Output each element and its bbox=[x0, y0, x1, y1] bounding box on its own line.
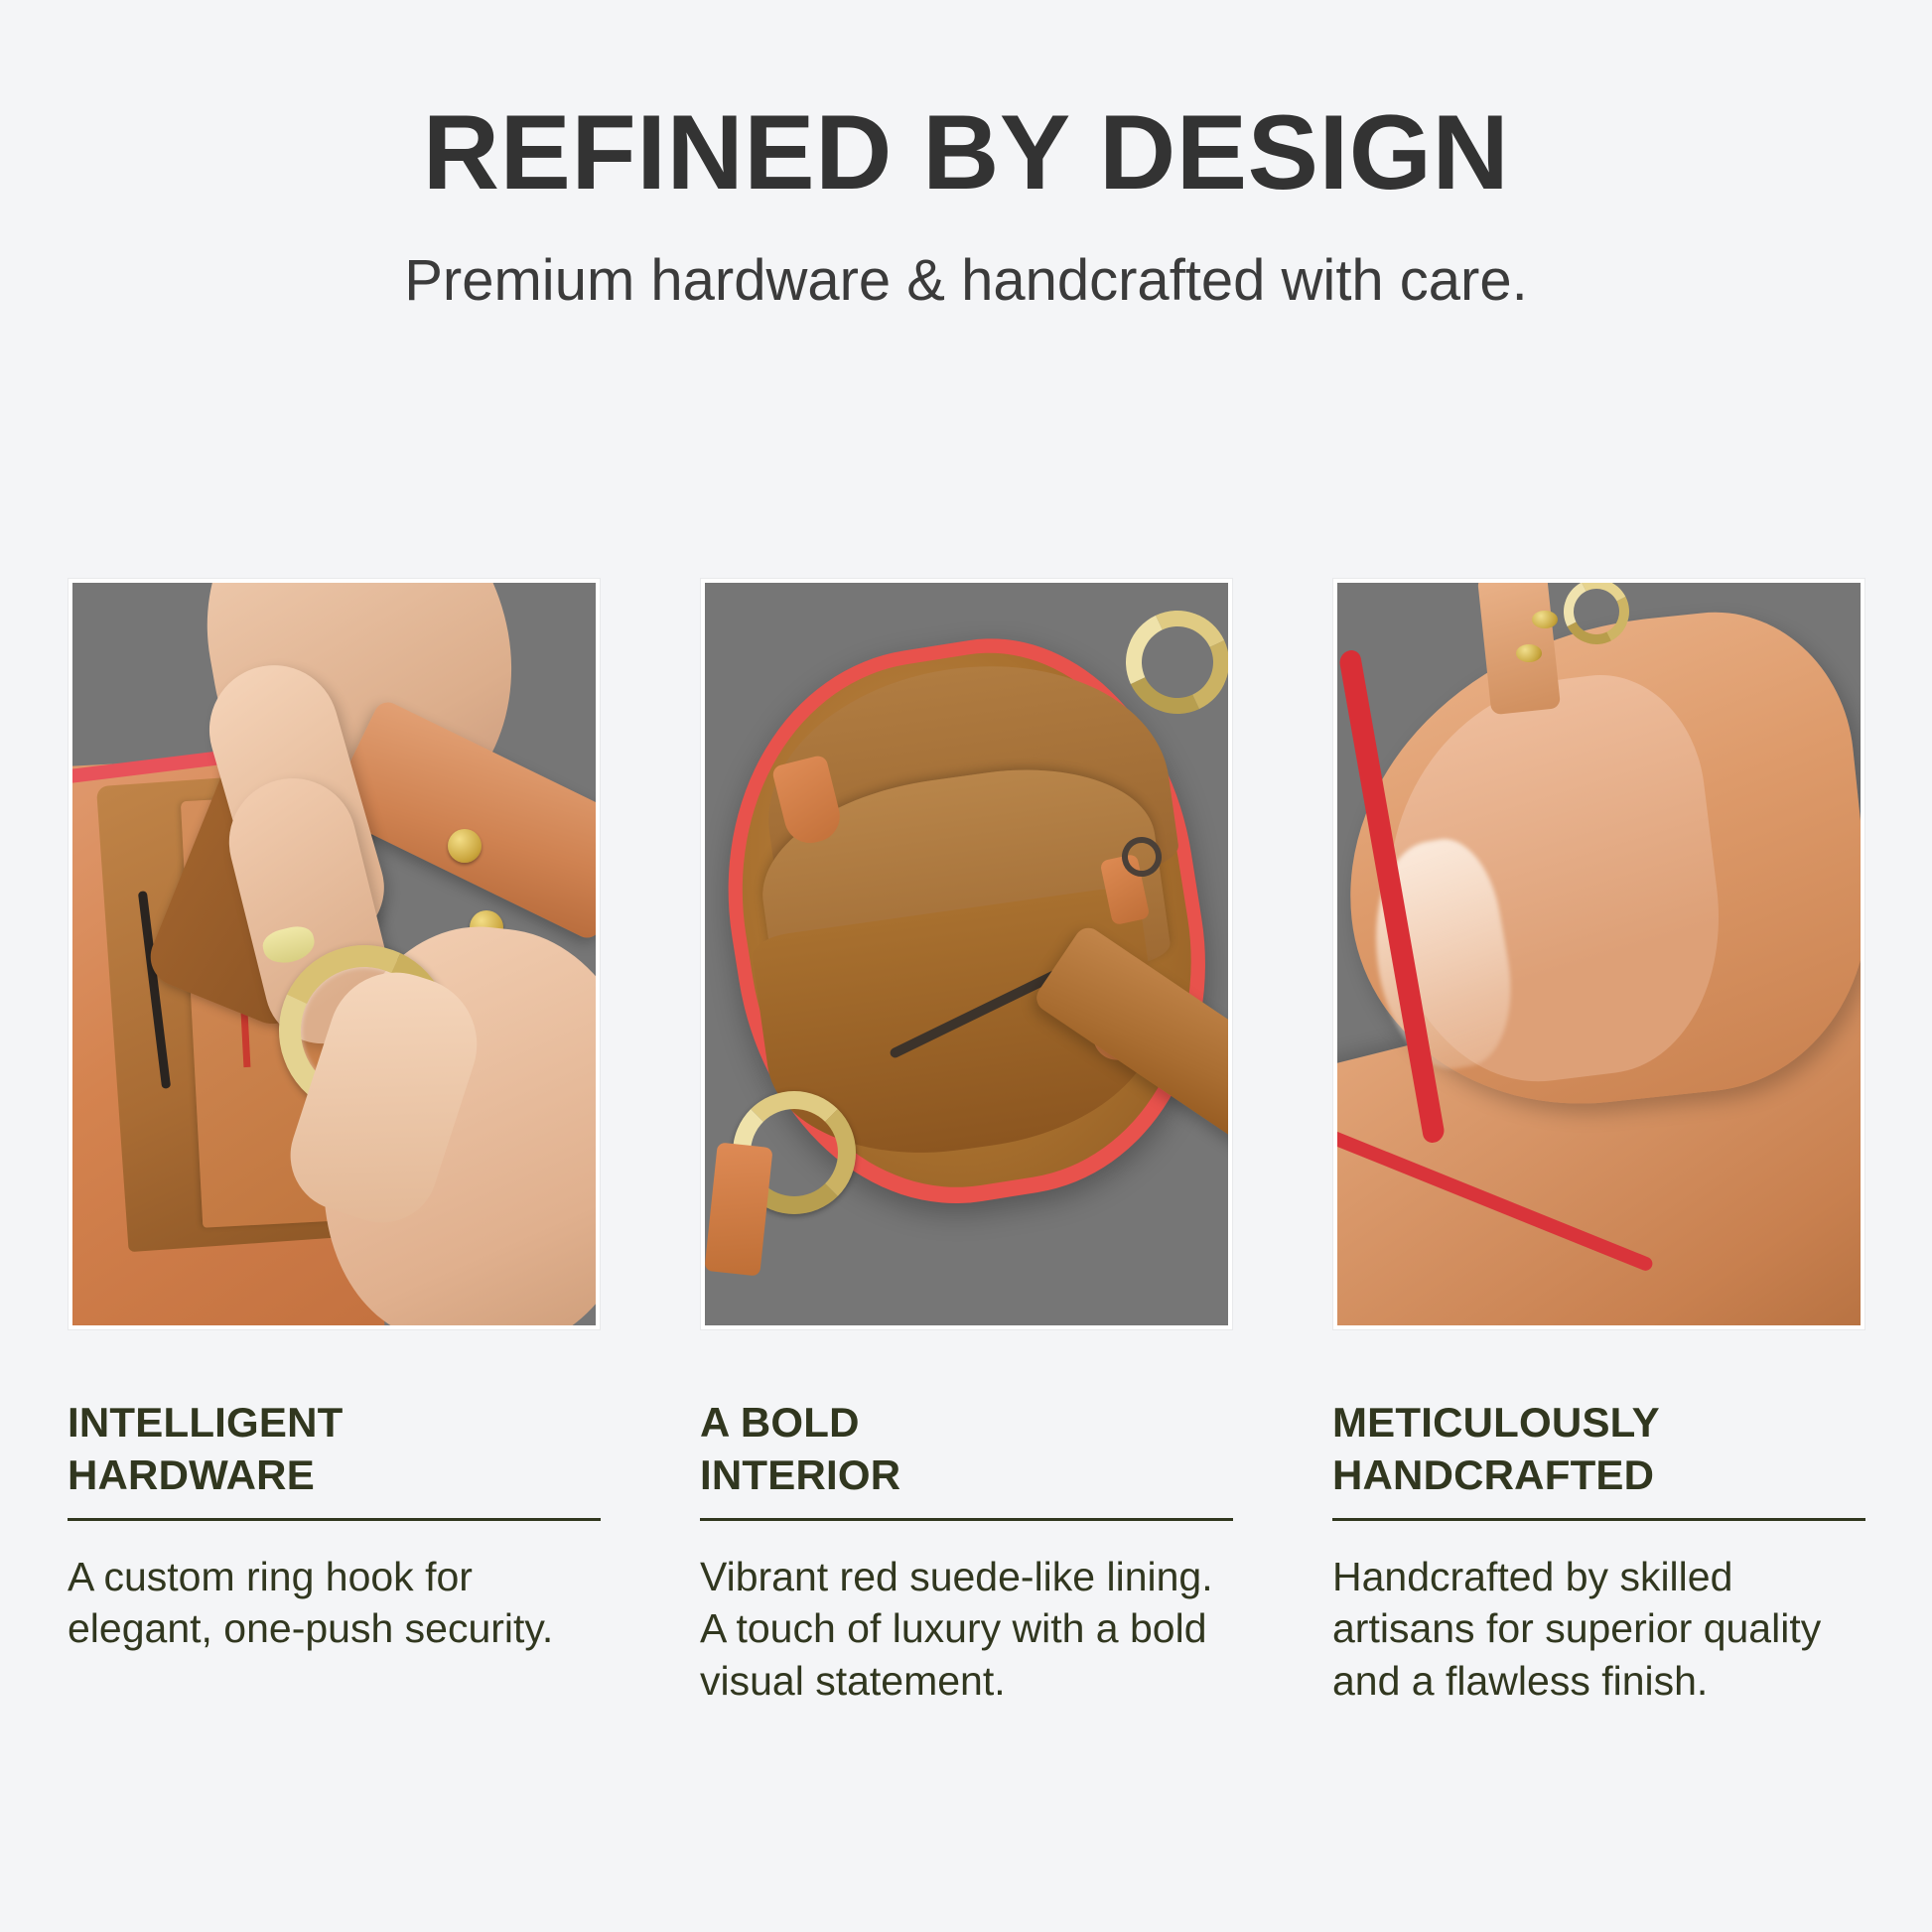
feature-description: A custom ring hook for elegant, one-push… bbox=[68, 1551, 601, 1655]
feature-description: Vibrant red suede-like lining. A touch o… bbox=[700, 1551, 1233, 1707]
feature-description: Handcrafted by skilled artisans for supe… bbox=[1332, 1551, 1865, 1707]
bag-interior-photo bbox=[705, 583, 1228, 1325]
feature-title: INTELLIGENT HARDWARE bbox=[68, 1397, 601, 1501]
feature-grid: INTELLIGENT HARDWARE A custom ring hook … bbox=[68, 578, 1864, 1707]
page-subtitle: Premium hardware & handcrafted with care… bbox=[0, 246, 1932, 316]
hands-ring-hook-photo bbox=[72, 583, 596, 1325]
feature-title: A BOLD INTERIOR bbox=[700, 1397, 1233, 1501]
feature-column-intelligent-hardware: INTELLIGENT HARDWARE A custom ring hook … bbox=[68, 578, 601, 1707]
feature-caption: INTELLIGENT HARDWARE A custom ring hook … bbox=[68, 1397, 601, 1655]
feature-column-bold-interior: A BOLD INTERIOR Vibrant red suede-like l… bbox=[700, 578, 1233, 1707]
feature-photo-frame bbox=[68, 578, 601, 1330]
caption-divider bbox=[700, 1518, 1233, 1521]
strap-tail-shape bbox=[705, 1142, 773, 1276]
page-title: REFINED BY DESIGN bbox=[0, 95, 1932, 210]
caption-divider bbox=[68, 1518, 601, 1521]
brass-stud-icon bbox=[1516, 644, 1542, 662]
feature-photo-frame bbox=[1332, 578, 1865, 1330]
brass-stud-icon bbox=[1532, 611, 1558, 628]
feature-caption: A BOLD INTERIOR Vibrant red suede-like l… bbox=[700, 1397, 1233, 1707]
brass-ring-icon bbox=[1111, 596, 1228, 728]
product-feature-page: REFINED BY DESIGN Premium hardware & han… bbox=[0, 0, 1932, 1932]
feature-caption: METICULOUSLY HANDCRAFTED Handcrafted by … bbox=[1332, 1397, 1865, 1707]
brass-stud-icon bbox=[448, 829, 482, 863]
feature-column-meticulously-handcrafted: METICULOUSLY HANDCRAFTED Handcrafted by … bbox=[1332, 578, 1865, 1707]
feature-photo-frame bbox=[700, 578, 1233, 1330]
feature-title: METICULOUSLY HANDCRAFTED bbox=[1332, 1397, 1865, 1501]
caption-divider bbox=[1332, 1518, 1865, 1521]
handcrafted-leather-photo bbox=[1337, 583, 1861, 1325]
page-header: REFINED BY DESIGN Premium hardware & han… bbox=[0, 95, 1932, 315]
